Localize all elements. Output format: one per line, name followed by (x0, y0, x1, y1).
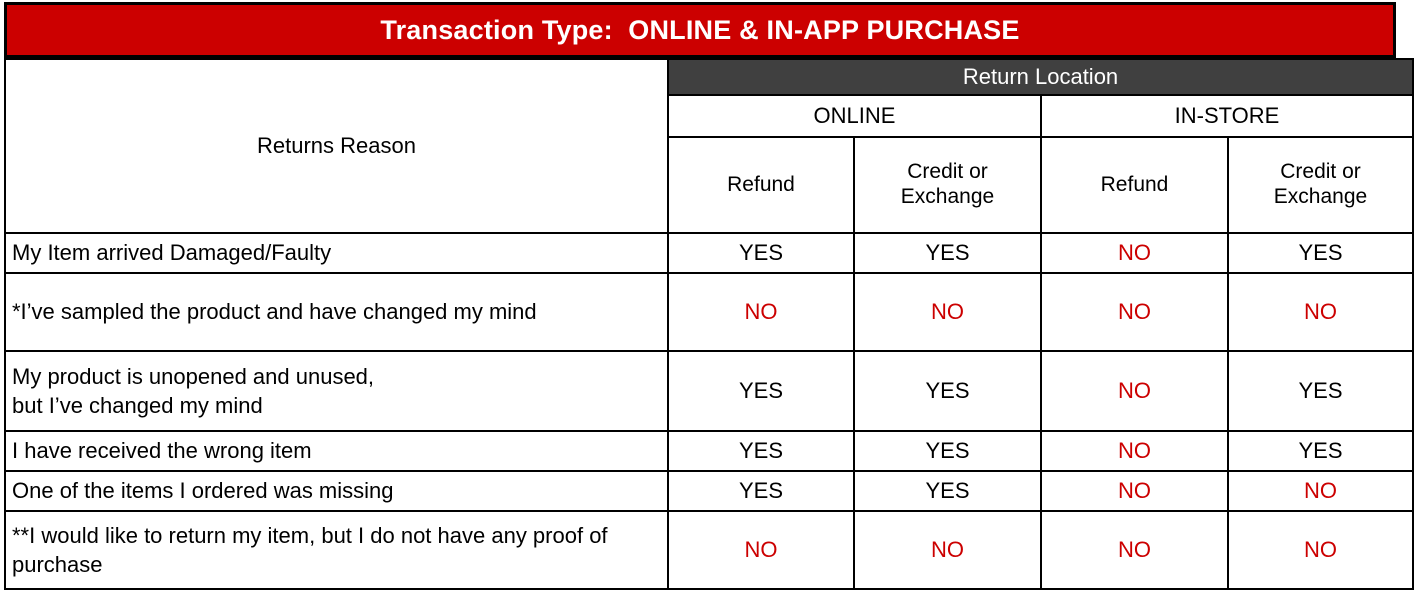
table-row: My product is unopened and unused, but I… (5, 351, 1413, 431)
reason-cell: My product is unopened and unused, but I… (5, 351, 668, 431)
value-cell-online-credit: NO (854, 511, 1041, 589)
value-cell-online-credit: YES (854, 471, 1041, 511)
value-cell-online-refund: YES (668, 431, 854, 471)
value-cell-instore-credit: NO (1228, 511, 1413, 589)
value-cell-online-credit: YES (854, 431, 1041, 471)
transaction-type-banner: Transaction Type: ONLINE & IN-APP PURCHA… (4, 2, 1396, 58)
table-row: One of the items I ordered was missing Y… (5, 471, 1413, 511)
header-online-credit-or-exchange: Credit or Exchange (854, 137, 1041, 233)
table-row: I have received the wrong item YES YES N… (5, 431, 1413, 471)
value-cell-online-refund: YES (668, 351, 854, 431)
value-cell-instore-refund: NO (1041, 233, 1228, 273)
value-cell-online-refund: YES (668, 471, 854, 511)
value-cell-instore-credit: YES (1228, 431, 1413, 471)
value-cell-online-credit: YES (854, 233, 1041, 273)
reason-cell: One of the items I ordered was missing (5, 471, 668, 511)
value-cell-instore-refund: NO (1041, 471, 1228, 511)
value-cell-instore-credit: NO (1228, 471, 1413, 511)
value-cell-online-credit: NO (854, 273, 1041, 351)
value-cell-instore-refund: NO (1041, 273, 1228, 351)
value-cell-instore-refund: NO (1041, 351, 1228, 431)
header-location-in-store: IN-STORE (1041, 95, 1413, 137)
value-cell-instore-credit: YES (1228, 233, 1413, 273)
header-in-store-refund: Refund (1041, 137, 1228, 233)
value-cell-instore-credit: YES (1228, 351, 1413, 431)
value-cell-online-credit: YES (854, 351, 1041, 431)
returns-policy-matrix: Transaction Type: ONLINE & IN-APP PURCHA… (0, 0, 1426, 602)
table-row: **I would like to return my item, but I … (5, 511, 1413, 589)
value-cell-instore-refund: NO (1041, 431, 1228, 471)
header-location-online: ONLINE (668, 95, 1041, 137)
table-head: Returns Reason Return Location ONLINE IN… (5, 59, 1413, 233)
reason-cell: My Item arrived Damaged/Faulty (5, 233, 668, 273)
value-cell-online-refund: NO (668, 273, 854, 351)
value-cell-online-refund: NO (668, 511, 854, 589)
header-return-location: Return Location (668, 59, 1413, 95)
header-row-group: Returns Reason Return Location (5, 59, 1413, 95)
header-in-store-credit-or-exchange: Credit or Exchange (1228, 137, 1413, 233)
header-online-refund: Refund (668, 137, 854, 233)
value-cell-online-refund: YES (668, 233, 854, 273)
reason-cell: *I’ve sampled the product and have chang… (5, 273, 668, 351)
value-cell-instore-credit: NO (1228, 273, 1413, 351)
value-cell-instore-refund: NO (1041, 511, 1228, 589)
table-body: My Item arrived Damaged/Faulty YES YES N… (5, 233, 1413, 589)
returns-matrix-table: Returns Reason Return Location ONLINE IN… (4, 58, 1414, 590)
reason-cell: **I would like to return my item, but I … (5, 511, 668, 589)
header-returns-reason: Returns Reason (5, 59, 668, 233)
table-row: My Item arrived Damaged/Faulty YES YES N… (5, 233, 1413, 273)
reason-cell: I have received the wrong item (5, 431, 668, 471)
table-row: *I’ve sampled the product and have chang… (5, 273, 1413, 351)
